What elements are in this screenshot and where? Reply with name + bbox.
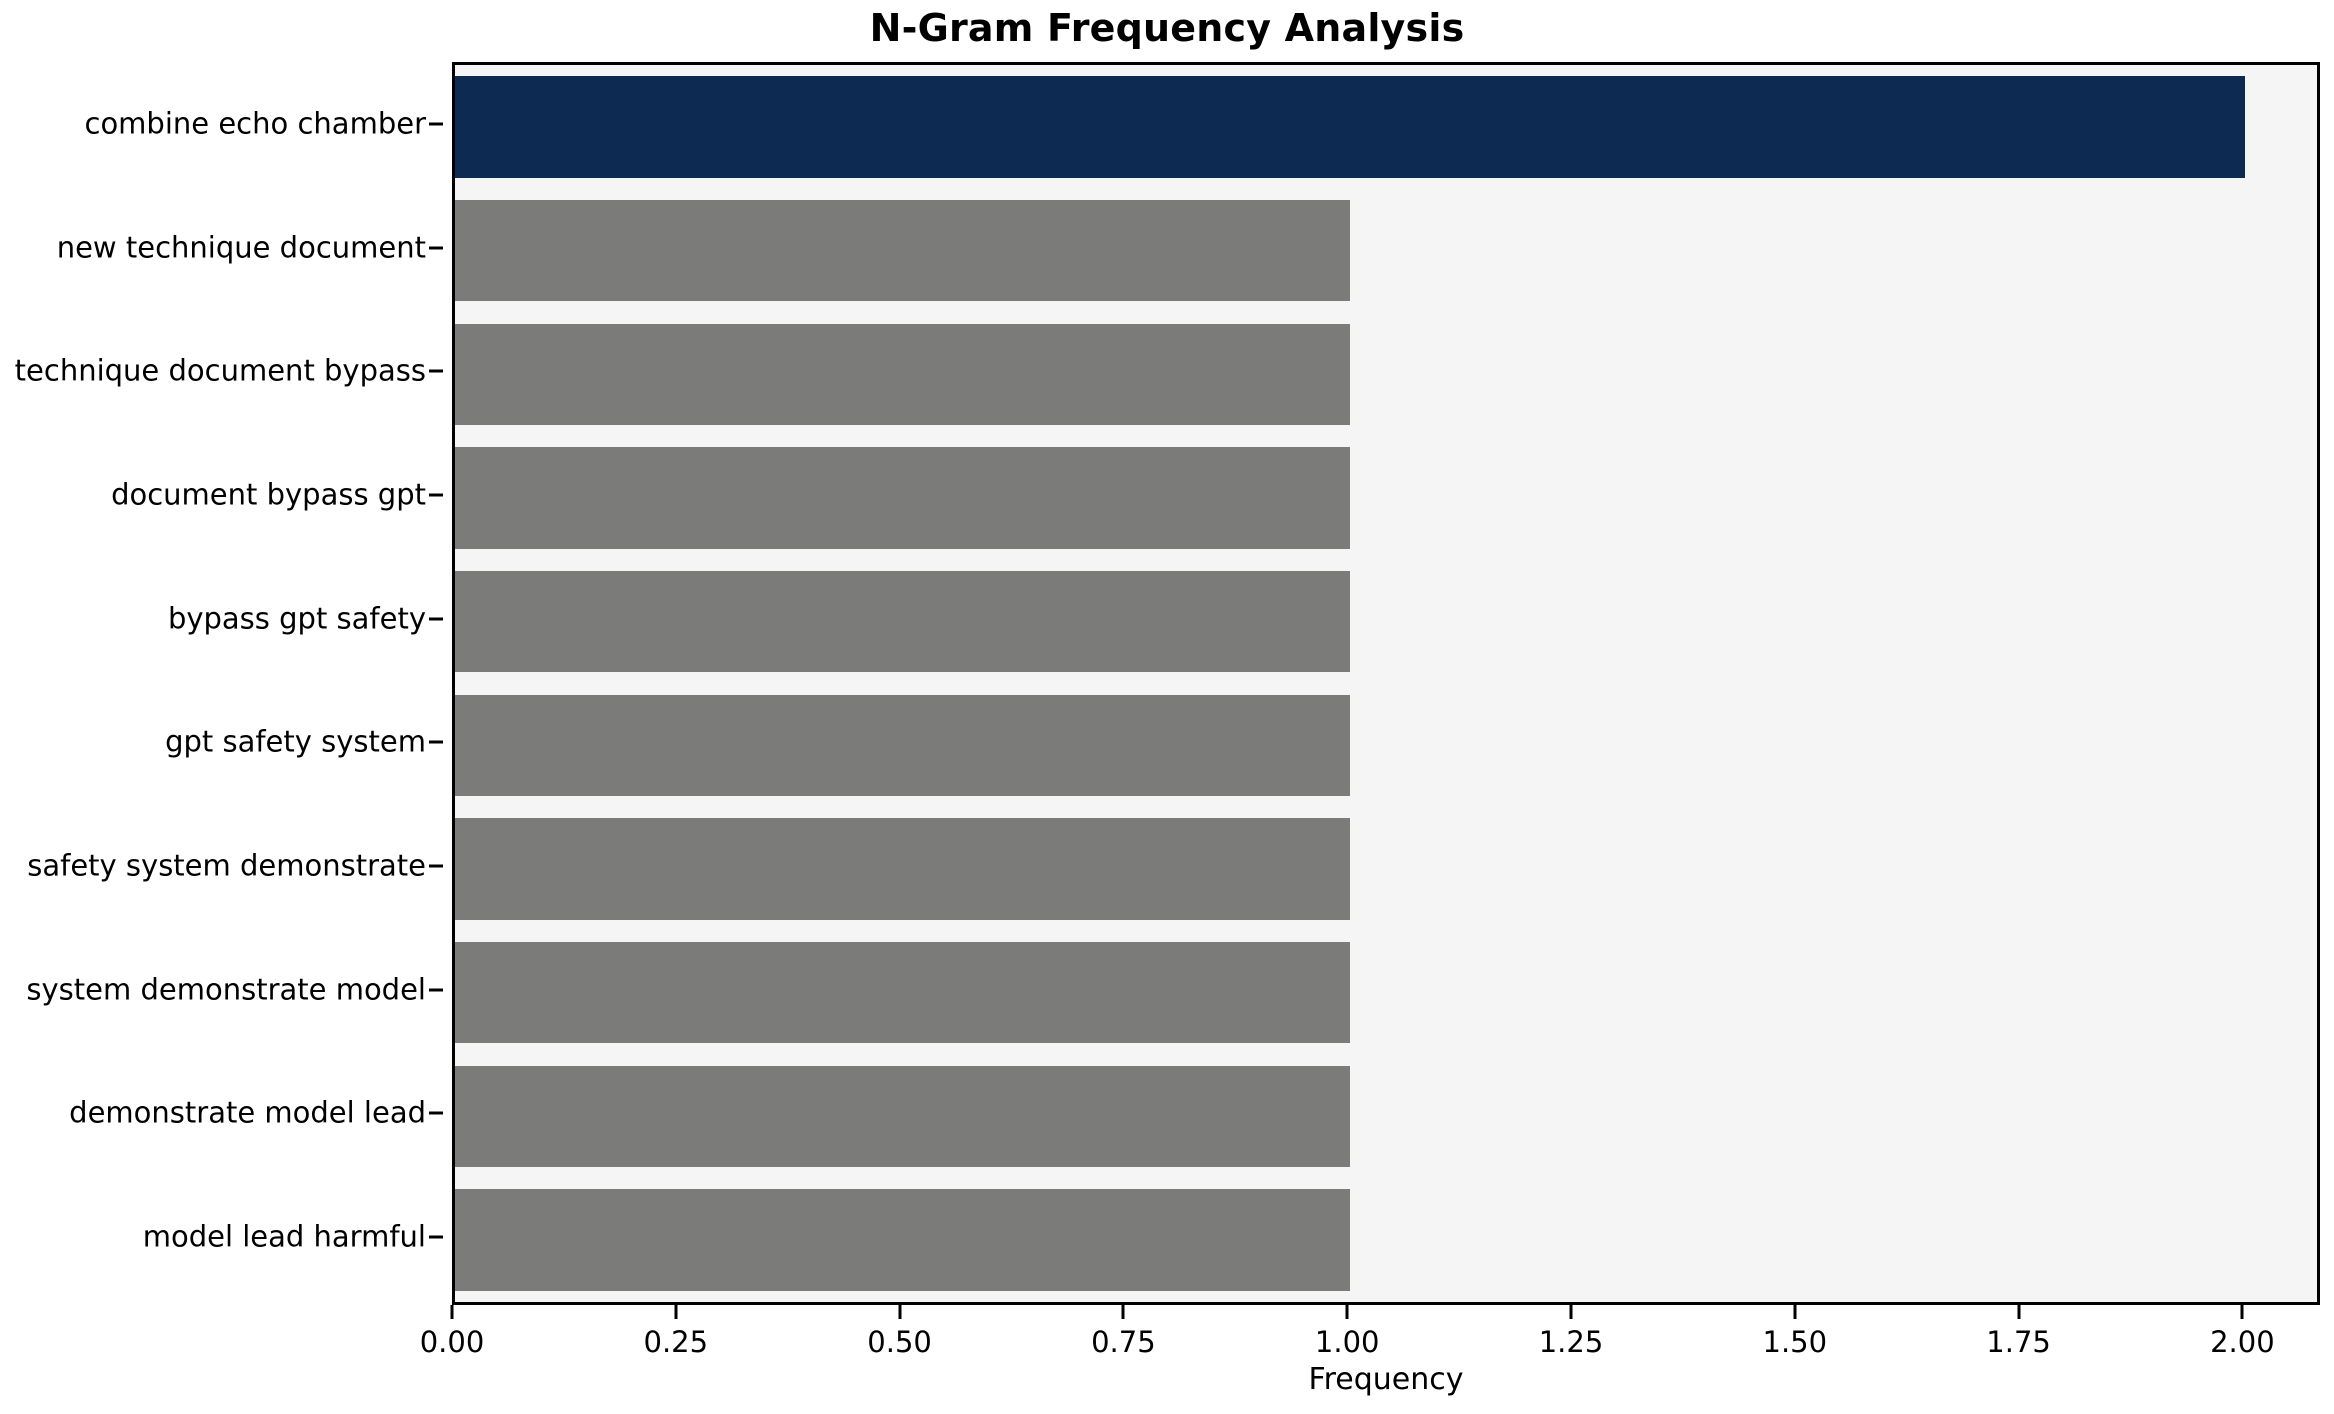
y-axis-tick-label: new technique document — [57, 233, 426, 262]
y-axis-tick-mark — [429, 1236, 443, 1239]
x-axis-tick-mark — [1346, 1305, 1349, 1319]
bar — [455, 324, 1350, 425]
x-axis-tick-mark — [451, 1305, 454, 1319]
y-axis-tick-label: technique document bypass — [15, 357, 426, 386]
x-axis-tick-mark — [898, 1305, 901, 1319]
bar-row — [455, 76, 2317, 177]
bar — [455, 447, 1350, 548]
bar — [455, 818, 1350, 919]
x-axis-tick-mark — [1569, 1305, 1572, 1319]
bar — [455, 942, 1350, 1043]
x-axis-title: Frequency — [452, 1362, 2320, 1397]
y-axis-tick-label: system demonstrate model — [26, 975, 426, 1004]
y-axis-tick-labels: combine echo chambernew technique docume… — [0, 62, 452, 1305]
chart-figure: N-Gram Frequency Analysis combine echo c… — [0, 0, 2334, 1414]
y-axis-tick-label: demonstrate model lead — [69, 1099, 426, 1128]
bar-row — [455, 200, 2317, 301]
x-axis-tick-label: 1.75 — [1986, 1325, 2051, 1359]
y-axis-tick-mark — [429, 493, 443, 496]
chart-title: N-Gram Frequency Analysis — [0, 6, 2334, 50]
y-axis-tick-mark — [429, 1112, 443, 1115]
y-axis-tick-mark — [429, 122, 443, 125]
x-axis-tick-mark — [2017, 1305, 2020, 1319]
bar-row — [455, 1066, 2317, 1167]
y-axis-tick-mark — [429, 988, 443, 991]
y-axis-tick-label: model lead harmful — [143, 1223, 426, 1252]
bar — [455, 1189, 1350, 1290]
x-axis-tick-label: 1.00 — [1315, 1325, 1380, 1359]
y-axis-tick-mark — [429, 865, 443, 868]
bar-row — [455, 324, 2317, 425]
y-axis-tick-label: combine echo chamber — [85, 109, 427, 138]
y-axis-tick-mark — [429, 370, 443, 373]
x-axis-tick-label: 1.25 — [1539, 1325, 1604, 1359]
bar — [455, 76, 2245, 177]
x-axis-tick-label: 0.75 — [1091, 1325, 1156, 1359]
x-axis-tick-label: 1.50 — [1762, 1325, 1827, 1359]
x-axis-tick-label: 0.25 — [644, 1325, 709, 1359]
y-axis-tick-label: safety system demonstrate — [27, 852, 426, 881]
y-axis-tick-mark — [429, 741, 443, 744]
bar — [455, 571, 1350, 672]
y-axis-tick-mark — [429, 617, 443, 620]
x-axis-tick-mark — [2241, 1305, 2244, 1319]
bar-row — [455, 1189, 2317, 1290]
bars-layer — [455, 65, 2317, 1302]
x-axis-tick-mark — [1122, 1305, 1125, 1319]
x-axis-tick-label: 0.50 — [867, 1325, 932, 1359]
x-axis-tick-label: 0.00 — [420, 1325, 485, 1359]
bar-row — [455, 447, 2317, 548]
y-axis-tick-label: bypass gpt safety — [168, 604, 426, 633]
bar-row — [455, 695, 2317, 796]
y-axis-tick-mark — [429, 246, 443, 249]
bar — [455, 695, 1350, 796]
bar-row — [455, 942, 2317, 1043]
x-axis-tick-mark — [1793, 1305, 1796, 1319]
y-axis-tick-label: gpt safety system — [165, 728, 426, 757]
x-axis-tick-label: 2.00 — [2210, 1325, 2275, 1359]
bar — [455, 200, 1350, 301]
bar — [455, 1066, 1350, 1167]
y-axis-tick-label: document bypass gpt — [111, 480, 426, 509]
bar-row — [455, 571, 2317, 672]
bar-row — [455, 818, 2317, 919]
x-axis-tick-mark — [674, 1305, 677, 1319]
plot-area — [452, 62, 2320, 1305]
